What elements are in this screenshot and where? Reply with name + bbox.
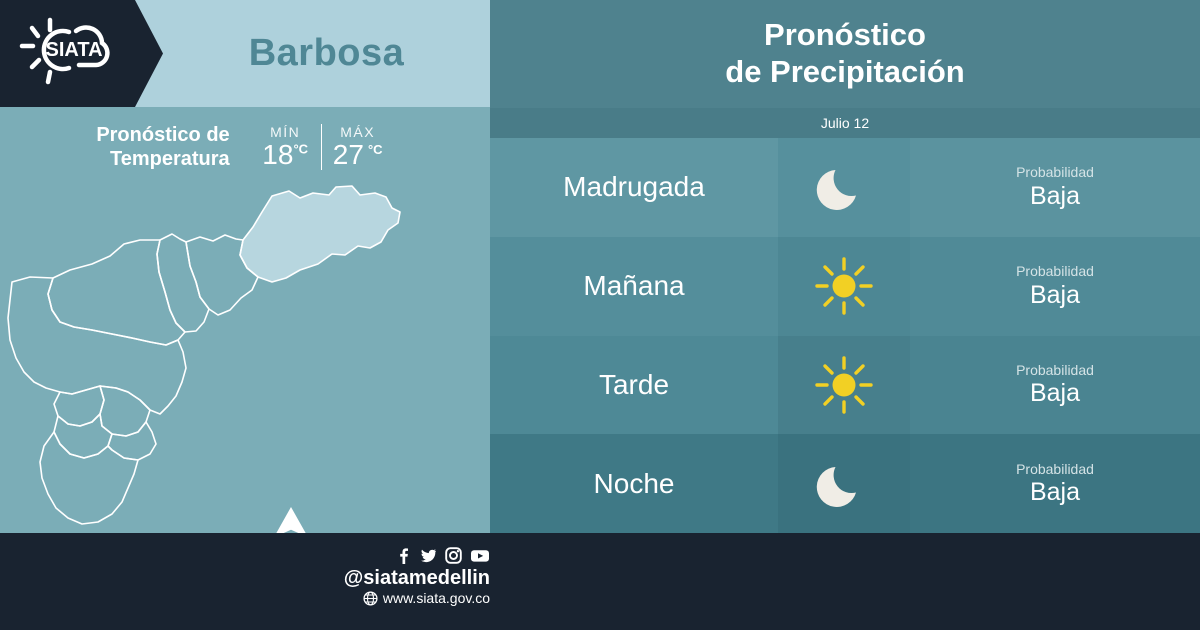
map-region-copacabana	[157, 234, 209, 332]
temperature-max-unit: °C	[368, 142, 383, 157]
map-region-sabaneta	[108, 422, 156, 460]
social-block: @siatamedellin www.siata.gov.co	[330, 547, 490, 606]
temperature-min-value: 18	[262, 139, 293, 170]
left-panel: SIATA Barbosa Pronóstico de Temperatura …	[0, 0, 490, 533]
forecast-date: Julio 12	[490, 108, 1200, 138]
map-region-barbosa	[240, 186, 400, 282]
probability-label: Probabilidad	[1016, 461, 1094, 479]
temperature-min-label: MÍN	[250, 124, 321, 140]
instagram-icon[interactable]	[445, 547, 462, 564]
probability-label: Probabilidad	[1016, 362, 1094, 380]
map-region-envigado	[100, 386, 150, 436]
website-url: www.siata.gov.co	[383, 590, 490, 606]
twitter-icon[interactable]	[419, 547, 437, 564]
social-icons	[330, 547, 490, 564]
map-svg	[0, 182, 490, 533]
precipitation-title: Pronóstico de Precipitación	[725, 17, 964, 90]
aburra-valley-map[interactable]: N	[0, 182, 490, 533]
probability-label: Probabilidad	[1016, 164, 1094, 182]
temperature-max-value-group: 27°C	[322, 140, 394, 169]
probability-value: Baja	[1030, 379, 1080, 408]
social-handle[interactable]: @siatamedellin	[330, 567, 490, 590]
forecast-row[interactable]: Noche Probabilidad Baja	[490, 434, 1200, 533]
period-label: Madrugada	[490, 138, 778, 237]
map-region-caldas	[40, 432, 138, 524]
map-region-la-estrella	[54, 414, 112, 458]
temperature-max: MÁX 27°C	[322, 124, 394, 169]
temperature-title-line2: Temperatura	[96, 147, 229, 171]
siata-logo-text: SIATA	[45, 39, 102, 61]
moon-icon	[778, 138, 910, 237]
youtube-icon[interactable]	[470, 547, 490, 564]
sun-icon	[778, 237, 910, 336]
footer: @siatamedellin www.siata.gov.co Con el a…	[0, 533, 1200, 630]
probability-cell: Probabilidad Baja	[910, 138, 1200, 237]
facebook-icon[interactable]	[395, 547, 411, 564]
sun-cloud-icon: SIATA	[14, 12, 126, 96]
forecast-rows: Madrugada Probabilidad Baja Mañana	[490, 138, 1200, 533]
probability-label: Probabilidad	[1016, 263, 1094, 281]
weather-forecast-infographic: SIATA Barbosa Pronóstico de Temperatura …	[0, 0, 1200, 630]
moon-icon	[778, 434, 910, 533]
temperature-min-value-group: 18°C	[250, 140, 321, 169]
globe-icon	[363, 591, 378, 606]
map-region-medellin	[8, 277, 186, 414]
precipitation-panel: Pronóstico de Precipitación Julio 12 Mad…	[490, 0, 1200, 533]
precipitation-header: Pronóstico de Precipitación	[490, 0, 1200, 108]
probability-cell: Probabilidad Baja	[910, 434, 1200, 533]
left-header: SIATA Barbosa	[0, 0, 490, 107]
probability-value: Baja	[1030, 478, 1080, 507]
sun-icon	[778, 336, 910, 435]
map-region-itagui	[54, 386, 104, 426]
period-label: Tarde	[490, 336, 778, 435]
probability-value: Baja	[1030, 182, 1080, 211]
forecast-row[interactable]: Tarde Probabilidad Baja	[490, 336, 1200, 435]
temperature-max-label: MÁX	[322, 124, 394, 140]
temperature-max-value: 27	[333, 139, 364, 170]
temperature-min-unit: °C	[293, 142, 308, 157]
probability-value: Baja	[1030, 281, 1080, 310]
siata-logo-badge[interactable]: SIATA	[0, 0, 163, 107]
temperature-min: MÍN 18°C	[250, 124, 322, 169]
precipitation-title-line2: de Precipitación	[725, 54, 964, 91]
temperature-title: Pronóstico de Temperatura	[96, 123, 229, 171]
website-line[interactable]: www.siata.gov.co	[330, 590, 490, 606]
precipitation-title-line1: Pronóstico	[725, 17, 964, 54]
temperature-title-line1: Pronóstico de	[96, 123, 229, 147]
period-label: Mañana	[490, 237, 778, 336]
city-title: Barbosa	[163, 0, 490, 107]
forecast-row[interactable]: Mañana Probabilidad Baja	[490, 237, 1200, 336]
map-region-bello	[48, 240, 185, 345]
probability-cell: Probabilidad Baja	[910, 237, 1200, 336]
forecast-row[interactable]: Madrugada Probabilidad Baja	[490, 138, 1200, 237]
probability-cell: Probabilidad Baja	[910, 336, 1200, 435]
temperature-summary: Pronóstico de Temperatura MÍN 18°C MÁX 2…	[0, 107, 490, 187]
period-label: Noche	[490, 434, 778, 533]
